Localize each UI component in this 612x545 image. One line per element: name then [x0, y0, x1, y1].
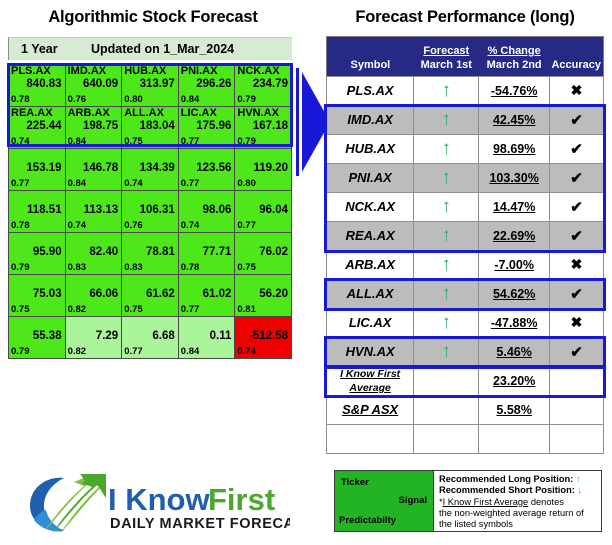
heatmap-cell-signal: 153.19 — [26, 162, 61, 175]
performance-accuracy-cell: ✖ — [549, 251, 603, 280]
heatmap-cell-signal: 98.06 — [203, 204, 232, 217]
heatmap-cell-predictability: 0.75 — [124, 136, 143, 148]
change-value: -47.88% — [491, 316, 538, 330]
performance-signal-cell: ↑ — [414, 164, 479, 193]
heatmap-cell-signal: 106.31 — [140, 204, 175, 217]
heatmap-cell-signal: 0.11 — [210, 330, 232, 343]
heatmap-cell-predictability: 0.82 — [68, 304, 87, 316]
performance-row[interactable]: ALL.AX↑54.62%✔ — [327, 280, 604, 309]
i-know-first-logo: I Know First DAILY MARKET FORECAST — [22, 472, 290, 538]
benchmark-accuracy-cell — [549, 396, 603, 425]
average-accuracy-cell — [549, 367, 603, 396]
performance-accuracy-cell: ✔ — [549, 280, 603, 309]
heatmap-cell[interactable]: 76.020.75 — [235, 233, 292, 275]
heatmap-cell-signal: 7.29 — [96, 330, 118, 343]
performance-symbol-cell: REA.AX — [327, 222, 414, 251]
svg-text:I Know: I Know — [108, 482, 210, 517]
heatmap-cell-predictability: 0.74 — [181, 220, 200, 232]
heatmap-cell-signal: 75.03 — [33, 288, 62, 301]
forecast-heatmap-table: PLS.AX840.830.78IMD.AX640.090.76HUB.AX31… — [8, 64, 292, 359]
heatmap-cell[interactable]: 77.710.78 — [178, 233, 235, 275]
performance-signal-cell: ↑ — [414, 77, 479, 106]
heatmap-cell-predictability: 0.75 — [11, 304, 30, 316]
heatmap-cell[interactable]: 0.110.84 — [178, 317, 235, 359]
logo-tagline: DAILY MARKET FORECAST — [110, 516, 290, 532]
cross-icon: ✖ — [571, 82, 583, 98]
check-icon: ✔ — [570, 228, 583, 245]
average-label-line2: Average — [327, 381, 413, 395]
heatmap-cell-predictability: 0.82 — [68, 346, 87, 358]
heatmap-cell-signal: 76.02 — [259, 246, 288, 259]
footer-bar-cell — [479, 425, 550, 454]
cross-icon: ✖ — [571, 256, 583, 272]
heatmap-cell-signal: 82.40 — [89, 246, 118, 259]
heatmap-cell-signal: 56.20 — [259, 288, 288, 301]
heatmap-cell-predictability: 0.76 — [124, 220, 143, 232]
heatmap-cell[interactable]: 134.390.74 — [122, 149, 179, 191]
symbol-label: REA.AX — [346, 228, 395, 243]
heatmap-cell[interactable]: LIC.AX175.960.77 — [178, 107, 235, 149]
symbol-label: IMD.AX — [347, 112, 393, 127]
heatmap-cell-predictability: 0.84 — [68, 178, 87, 190]
heatmap-cell-predictability: 0.84 — [181, 94, 200, 106]
legend-box: Ticker Signal Predictabilty Recommended … — [334, 470, 602, 532]
heatmap-cell-signal: 296.26 — [196, 78, 231, 91]
header-symbol: Symbol — [327, 37, 414, 77]
performance-row[interactable]: IMD.AX↑42.45%✔ — [327, 106, 604, 135]
performance-symbol-cell: HUB.AX — [327, 135, 414, 164]
performance-row[interactable]: ARB.AX↑-7.00%✖ — [327, 251, 604, 280]
flow-arrow-icon — [296, 68, 330, 176]
performance-row[interactable]: LIC.AX↑-47.88%✖ — [327, 309, 604, 338]
legend-note-line1: *I Know First Average denotes — [439, 497, 597, 508]
cross-icon: ✖ — [571, 314, 583, 330]
heatmap-cell-signal: 95.90 — [33, 246, 62, 259]
performance-change-cell: 14.47% — [479, 193, 550, 222]
average-signal-cell — [414, 367, 479, 396]
heatmap-cell-predictability: 0.81 — [237, 304, 256, 316]
average-label-cell: I Know FirstAverage — [327, 367, 414, 396]
heatmap-cell-predictability: 0.77 — [181, 136, 200, 148]
benchmark-change-value: 5.58% — [496, 403, 531, 417]
heatmap-cell[interactable]: IMD.AX640.090.76 — [65, 65, 122, 107]
heatmap-cell[interactable]: 61.020.77 — [178, 275, 235, 317]
check-icon: ✔ — [570, 286, 583, 303]
table-footer-bar — [327, 425, 604, 454]
average-change-cell: 23.20% — [479, 367, 550, 396]
change-value: 22.69% — [493, 229, 535, 243]
performance-row[interactable]: HVN.AX↑5.46%✔ — [327, 338, 604, 367]
benchmark-row: S&P ASX5.58% — [327, 396, 604, 425]
up-arrow-icon: ↑ — [442, 313, 452, 332]
symbol-label: PLS.AX — [347, 83, 394, 98]
heatmap-cell[interactable]: 61.620.75 — [122, 275, 179, 317]
performance-change-cell: -7.00% — [479, 251, 550, 280]
heatmap-cell-predictability: 0.78 — [11, 220, 30, 232]
performance-accuracy-cell: ✔ — [549, 135, 603, 164]
heatmap-cell-predictability: 0.77 — [181, 304, 200, 316]
performance-row[interactable]: PLS.AX↑-54.76%✖ — [327, 77, 604, 106]
heatmap-row: 153.190.77146.780.84134.390.74123.560.77… — [9, 149, 292, 191]
heatmap-cell-ticker: NCK.AX — [237, 65, 279, 78]
legend-color-key: Ticker Signal Predictabilty — [335, 471, 434, 531]
performance-signal-cell: ↑ — [414, 222, 479, 251]
heatmap-cell[interactable]: HVN.AX167.180.79 — [235, 107, 292, 149]
up-arrow-icon: ↑ — [442, 226, 452, 245]
heatmap-cell[interactable]: 146.780.84 — [65, 149, 122, 191]
performance-symbol-cell: NCK.AX — [327, 193, 414, 222]
forecast-performance-table: Symbol Forecast March 1st % Change March… — [326, 36, 604, 454]
heatmap-row: REA.AX225.440.74ARB.AX198.750.84ALL.AX18… — [9, 107, 292, 149]
performance-symbol-cell: HVN.AX — [327, 338, 414, 367]
change-value: -7.00% — [494, 258, 534, 272]
heatmap-cell[interactable]: 66.060.82 — [65, 275, 122, 317]
heatmap-cell[interactable]: 98.060.74 — [178, 191, 235, 233]
legend-long-line: Recommended Long Position: ↑ — [439, 474, 597, 485]
heatmap-row: PLS.AX840.830.78IMD.AX640.090.76HUB.AX31… — [9, 65, 292, 107]
performance-change-cell: 98.69% — [479, 135, 550, 164]
heatmap-cell[interactable]: 55.380.79 — [9, 317, 66, 359]
heatmap-cell[interactable]: 153.190.77 — [9, 149, 66, 191]
forecast-updated-label: Updated on 1_Mar_2024 — [91, 42, 234, 56]
performance-accuracy-cell: ✔ — [549, 106, 603, 135]
performance-change-cell: 103.30% — [479, 164, 550, 193]
heatmap-cell-ticker: HUB.AX — [124, 65, 166, 78]
forecast-horizon-label: 1 Year — [21, 42, 91, 56]
check-icon: ✔ — [570, 170, 583, 187]
change-value: 5.46% — [496, 345, 531, 359]
heatmap-cell-predictability: 0.74 — [124, 178, 143, 190]
check-icon: ✔ — [570, 344, 583, 361]
up-arrow-icon: ↑ — [442, 255, 452, 274]
heatmap-cell-signal: 96.04 — [259, 204, 288, 217]
performance-symbol-cell: ALL.AX — [327, 280, 414, 309]
performance-signal-cell: ↑ — [414, 280, 479, 309]
change-value: 54.62% — [493, 287, 535, 301]
average-row: I Know FirstAverage23.20% — [327, 367, 604, 396]
heatmap-cell[interactable]: PNI.AX296.260.84 — [178, 65, 235, 107]
legend-short-label: Recommended Short Position: — [439, 485, 575, 495]
heatmap-cell-signal: 225.44 — [26, 120, 61, 133]
performance-row[interactable]: NCK.AX↑14.47%✔ — [327, 193, 604, 222]
symbol-label: HVN.AX — [346, 344, 395, 359]
heatmap-row: 95.900.7982.400.8378.810.8377.710.7876.0… — [9, 233, 292, 275]
heatmap-cell-predictability: 0.77 — [124, 346, 143, 358]
legend-description: Recommended Long Position: ↑ Recommended… — [434, 471, 601, 531]
heatmap-cell-signal: 840.83 — [26, 78, 61, 91]
change-value: 98.69% — [493, 142, 535, 156]
legend-note-underlined: I Know First Average — [443, 497, 529, 507]
heatmap-cell-predictability: 0.79 — [237, 94, 256, 106]
heatmap-cell-predictability: 0.79 — [11, 262, 30, 274]
heatmap-cell-signal: 313.97 — [140, 78, 175, 91]
heatmap-cell[interactable]: 7.290.82 — [65, 317, 122, 359]
up-arrow-icon: ↑ — [442, 342, 452, 361]
heatmap-cell-signal: 66.06 — [89, 288, 118, 301]
heatmap-cell-signal: 119.20 — [253, 162, 288, 175]
heatmap-cell-predictability: 0.78 — [181, 262, 200, 274]
heatmap-cell-predictability: 0.80 — [124, 94, 143, 106]
symbol-label: LIC.AX — [349, 315, 392, 330]
heatmap-cell[interactable]: PLS.AX840.830.78 — [9, 65, 66, 107]
performance-signal-cell: ↑ — [414, 309, 479, 338]
performance-row[interactable]: PNI.AX↑103.30%✔ — [327, 164, 604, 193]
performance-header-row: Symbol Forecast March 1st % Change March… — [327, 37, 604, 77]
heatmap-cell-signal: 198.75 — [83, 120, 118, 133]
legend-predictability-label: Predictabilty — [339, 515, 396, 526]
symbol-label: PNI.AX — [348, 170, 391, 185]
heatmap-cell[interactable]: 82.400.83 — [65, 233, 122, 275]
heatmap-cell-predictability: 0.75 — [124, 304, 143, 316]
up-arrow-icon: ↑ — [442, 284, 452, 303]
heatmap-cell-signal: 146.78 — [83, 162, 118, 175]
heatmap-cell-predictability: 0.84 — [181, 346, 200, 358]
benchmark-signal-cell — [414, 396, 479, 425]
heatmap-cell[interactable]: NCK.AX234.790.79 — [235, 65, 292, 107]
heatmap-cell[interactable]: 78.810.83 — [122, 233, 179, 275]
heatmap-cell[interactable]: 118.510.78 — [9, 191, 66, 233]
heatmap-cell-predictability: 0.84 — [68, 136, 87, 148]
heatmap-cell[interactable]: 113.130.74 — [65, 191, 122, 233]
change-value: -54.76% — [491, 84, 538, 98]
legend-long-label: Recommended Long Position: — [439, 474, 573, 484]
performance-change-cell: 54.62% — [479, 280, 550, 309]
change-value: 14.47% — [493, 200, 535, 214]
heatmap-cell[interactable]: 95.900.79 — [9, 233, 66, 275]
heatmap-cell-ticker: PLS.AX — [11, 65, 51, 78]
heatmap-cell-signal: -512.58 — [249, 330, 288, 343]
heatmap-cell-predictability: 0.80 — [237, 178, 256, 190]
heatmap-cell[interactable]: 56.200.81 — [235, 275, 292, 317]
performance-signal-cell: ↑ — [414, 251, 479, 280]
header-forecast: Forecast March 1st — [414, 37, 479, 77]
heatmap-cell[interactable]: ARB.AX198.750.84 — [65, 107, 122, 149]
performance-change-cell: 42.45% — [479, 106, 550, 135]
performance-accuracy-cell: ✖ — [549, 309, 603, 338]
heatmap-cell-ticker: REA.AX — [11, 107, 53, 120]
heatmap-cell-signal: 77.71 — [203, 246, 232, 259]
heatmap-cell-signal: 234.79 — [253, 78, 288, 91]
footer-bar-cell — [414, 425, 479, 454]
heatmap-cell-predictability: 0.78 — [11, 94, 30, 106]
benchmark-label: S&P ASX — [342, 402, 398, 417]
footer-bar-cell — [327, 425, 414, 454]
heatmap-cell-predictability: 0.83 — [124, 262, 143, 274]
benchmark-label-cell: S&P ASX — [327, 396, 414, 425]
heatmap-cell[interactable]: 6.680.77 — [122, 317, 179, 359]
up-arrow-icon: ↑ — [442, 81, 452, 100]
footer-bar-cell — [549, 425, 603, 454]
svg-text:First: First — [208, 482, 275, 517]
heatmap-cell[interactable]: 106.310.76 — [122, 191, 179, 233]
heatmap-cell-signal: 61.62 — [146, 288, 175, 301]
heatmap-cell[interactable]: 75.030.75 — [9, 275, 66, 317]
performance-signal-cell: ↑ — [414, 106, 479, 135]
performance-symbol-cell: LIC.AX — [327, 309, 414, 338]
heatmap-cell[interactable]: REA.AX225.440.74 — [9, 107, 66, 149]
change-value: 103.30% — [489, 171, 538, 185]
header-accuracy: Accuracy — [549, 37, 603, 77]
performance-symbol-cell: ARB.AX — [327, 251, 414, 280]
up-arrow-icon: ↑ — [442, 197, 452, 216]
heatmap-cell[interactable]: 119.200.80 — [235, 149, 292, 191]
symbol-label: NCK.AX — [345, 199, 395, 214]
average-label-line1: I Know First — [327, 367, 413, 381]
heatmap-cell-ticker: PNI.AX — [181, 65, 218, 78]
heatmap-cell-signal: 640.09 — [83, 78, 118, 91]
heatmap-cell-ticker: IMD.AX — [68, 65, 107, 78]
heatmap-cell-ticker: ARB.AX — [68, 107, 110, 120]
heatmap-cell-signal: 167.18 — [253, 120, 288, 133]
heatmap-cell-predictability: 0.76 — [68, 94, 87, 106]
performance-row[interactable]: REA.AX↑22.69%✔ — [327, 222, 604, 251]
benchmark-change-cell: 5.58% — [479, 396, 550, 425]
legend-ticker-label: Ticker — [341, 477, 369, 488]
performance-accuracy-cell: ✔ — [549, 164, 603, 193]
heatmap-cell-predictability: 0.74 — [68, 220, 87, 232]
symbol-label: ALL.AX — [347, 286, 394, 301]
up-arrow-icon: ↑ — [442, 110, 452, 129]
performance-signal-cell: ↑ — [414, 135, 479, 164]
heatmap-cell-predictability: 0.79 — [237, 136, 256, 148]
heatmap-cell-predictability: 0.79 — [11, 346, 30, 358]
check-icon: ✔ — [570, 112, 583, 129]
check-icon: ✔ — [570, 141, 583, 158]
heatmap-cell-ticker: LIC.AX — [181, 107, 217, 120]
performance-change-cell: 22.69% — [479, 222, 550, 251]
heatmap-cell-predictability: 0.77 — [237, 220, 256, 232]
heatmap-cell[interactable]: 123.560.77 — [178, 149, 235, 191]
header-change: % Change March 2nd — [479, 37, 550, 77]
performance-change-cell: 5.46% — [479, 338, 550, 367]
heatmap-cell[interactable]: HUB.AX313.970.80 — [122, 65, 179, 107]
heatmap-row: 75.030.7566.060.8261.620.7561.020.7756.2… — [9, 275, 292, 317]
performance-accuracy-cell: ✔ — [549, 338, 603, 367]
symbol-label: ARB.AX — [345, 257, 395, 272]
right-panel-title: Forecast Performance (long) — [318, 8, 612, 27]
performance-accuracy-cell: ✖ — [549, 77, 603, 106]
heatmap-cell-signal: 175.96 — [196, 120, 231, 133]
heatmap-cell-signal: 55.38 — [33, 330, 62, 343]
heatmap-cell-predictability: 0.74 — [11, 136, 30, 148]
heatmap-row: 118.510.78113.130.74106.310.7698.060.749… — [9, 191, 292, 233]
heatmap-cell[interactable]: -512.580.74 — [235, 317, 292, 359]
heatmap-cell-signal: 61.02 — [203, 288, 232, 301]
symbol-label: HUB.AX — [345, 141, 395, 156]
legend-note-line2: the non-weighted average return of — [439, 508, 597, 519]
performance-symbol-cell: IMD.AX — [327, 106, 414, 135]
heatmap-cell-signal: 78.81 — [146, 246, 175, 259]
up-arrow-icon: ↑ — [442, 139, 452, 158]
performance-accuracy-cell: ✔ — [549, 193, 603, 222]
heatmap-cell[interactable]: 96.040.77 — [235, 191, 292, 233]
left-panel: Algorithmic Stock Forecast 1 Year Update… — [0, 0, 306, 545]
performance-change-cell: -54.76% — [479, 77, 550, 106]
change-value: 42.45% — [493, 113, 535, 127]
heatmap-cell-predictability: 0.75 — [237, 262, 256, 274]
check-icon: ✔ — [570, 199, 583, 216]
performance-row[interactable]: HUB.AX↑98.69%✔ — [327, 135, 604, 164]
heatmap-cell-predictability: 0.77 — [181, 178, 200, 190]
performance-symbol-cell: PNI.AX — [327, 164, 414, 193]
legend-up-arrow-icon: ↑ — [576, 474, 581, 484]
heatmap-cell-signal: 118.51 — [27, 204, 62, 217]
heatmap-cell-predictability: 0.77 — [11, 178, 30, 190]
performance-signal-cell: ↑ — [414, 193, 479, 222]
legend-down-arrow-icon: ↓ — [577, 485, 582, 495]
legend-signal-label: Signal — [398, 495, 427, 506]
left-panel-title: Algorithmic Stock Forecast — [0, 8, 306, 27]
legend-short-line: Recommended Short Position: ↓ — [439, 485, 597, 496]
forecast-horizon-bar: 1 Year Updated on 1_Mar_2024 — [8, 37, 292, 60]
average-change-value: 23.20% — [493, 374, 535, 388]
heatmap-cell-signal: 183.04 — [140, 120, 175, 133]
heatmap-cell[interactable]: ALL.AX183.040.75 — [122, 107, 179, 149]
performance-accuracy-cell: ✔ — [549, 222, 603, 251]
heatmap-cell-ticker: HVN.AX — [237, 107, 279, 120]
heatmap-cell-signal: 113.13 — [84, 204, 119, 217]
heatmap-cell-signal: 123.56 — [196, 162, 231, 175]
heatmap-cell-signal: 134.39 — [140, 162, 175, 175]
legend-note-line3: the listed symbols — [439, 519, 597, 530]
heatmap-cell-predictability: 0.74 — [237, 346, 256, 358]
performance-symbol-cell: PLS.AX — [327, 77, 414, 106]
performance-signal-cell: ↑ — [414, 338, 479, 367]
heatmap-row: 55.380.797.290.826.680.770.110.84-512.58… — [9, 317, 292, 359]
heatmap-cell-ticker: ALL.AX — [124, 107, 164, 120]
legend-note-rest: denotes — [528, 497, 564, 507]
up-arrow-icon: ↑ — [442, 168, 452, 187]
performance-change-cell: -47.88% — [479, 309, 550, 338]
heatmap-cell-predictability: 0.83 — [68, 262, 87, 274]
heatmap-cell-signal: 6.68 — [152, 330, 174, 343]
